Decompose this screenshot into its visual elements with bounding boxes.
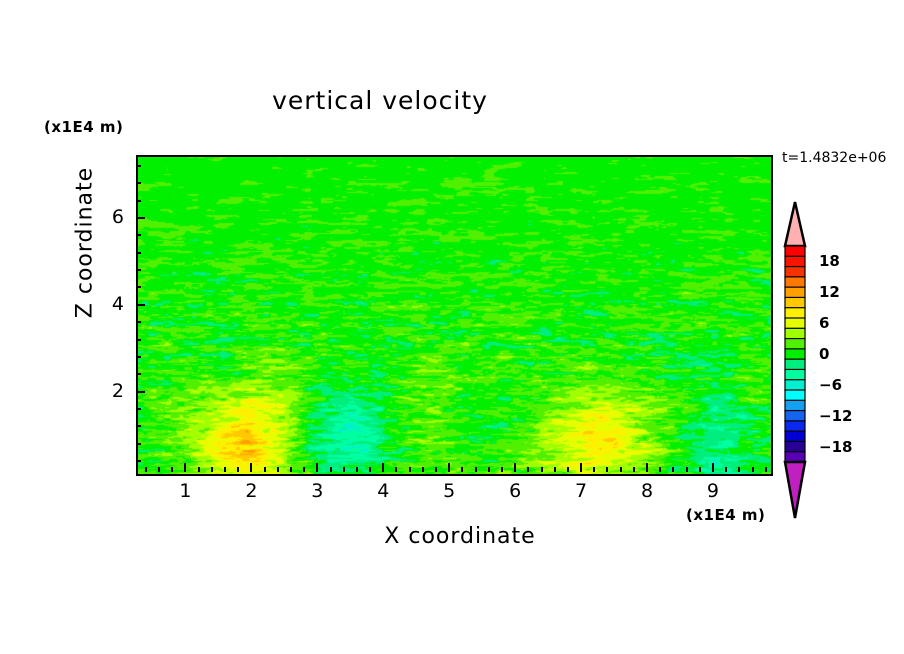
x-tick-label: 6 [500, 480, 530, 502]
contour-plot-area [136, 155, 773, 476]
x-tick-minor [527, 467, 529, 472]
x-tick-major [580, 463, 582, 472]
x-tick-minor [435, 467, 437, 472]
y-tick-minor [136, 252, 141, 254]
x-tick-minor [752, 467, 754, 472]
y-tick-minor [136, 182, 141, 184]
z-axis-unit-label: (x1E4 m) [44, 118, 123, 136]
colorbar-over-cap [785, 202, 805, 246]
x-tick-label: 2 [236, 480, 266, 502]
x-tick-minor [145, 467, 147, 472]
x-axis-unit-label: (x1E4 m) [686, 506, 765, 524]
x-tick-minor [264, 467, 266, 472]
colorbar-band [785, 390, 805, 401]
colorbar-band [785, 359, 805, 370]
colorbar-band [785, 308, 805, 319]
y-tick-major [136, 217, 145, 219]
y-tick-minor [136, 234, 141, 236]
colorbar-tick-label: 0 [819, 345, 829, 363]
y-tick-minor [136, 165, 141, 167]
y-tick-major [136, 304, 145, 306]
x-tick-label: 7 [566, 480, 596, 502]
x-tick-major [250, 463, 252, 472]
y-tick-minor [136, 286, 141, 288]
y-tick-minor [136, 321, 141, 323]
colorbar-tick-label: −18 [819, 438, 852, 456]
x-tick-minor [409, 467, 411, 472]
colorbar-band [785, 441, 805, 452]
x-axis-title: X coordinate [290, 524, 630, 549]
x-tick-minor [303, 467, 305, 472]
x-tick-minor [343, 467, 345, 472]
colorbar-band [785, 287, 805, 298]
x-tick-major [646, 463, 648, 472]
x-tick-minor [356, 467, 358, 472]
x-tick-minor [541, 467, 543, 472]
x-tick-minor [224, 467, 226, 472]
x-tick-label: 1 [170, 480, 200, 502]
x-tick-minor [659, 467, 661, 472]
colorbar-band [785, 246, 805, 257]
colorbar-band [785, 267, 805, 278]
y-tick-major [136, 391, 145, 393]
colorbar-band [785, 421, 805, 432]
x-tick-minor [369, 467, 371, 472]
colorbar-tick-label: 6 [819, 314, 829, 332]
x-tick-minor [198, 467, 200, 472]
x-tick-minor [699, 467, 701, 472]
y-tick-minor [136, 460, 141, 462]
x-tick-major [448, 463, 450, 472]
x-tick-minor [461, 467, 463, 472]
y-tick-minor [136, 373, 141, 375]
x-tick-minor [290, 467, 292, 472]
colorbar-band [785, 380, 805, 391]
colorbar-under-cap [785, 462, 805, 518]
x-tick-minor [765, 467, 767, 472]
y-tick-minor [136, 425, 141, 427]
colorbar-tick-label: −6 [819, 376, 842, 394]
x-tick-label: 4 [368, 480, 398, 502]
colorbar-band [785, 339, 805, 350]
colorbar-band [785, 256, 805, 267]
x-tick-label: 9 [698, 480, 728, 502]
x-tick-minor [422, 467, 424, 472]
colorbar-band [785, 369, 805, 380]
colorbar-band [785, 349, 805, 360]
x-tick-minor [158, 467, 160, 472]
x-tick-minor [237, 467, 239, 472]
x-tick-minor [211, 467, 213, 472]
x-tick-minor [738, 467, 740, 472]
colorbar-band [785, 411, 805, 422]
x-tick-minor [277, 467, 279, 472]
x-tick-minor [672, 467, 674, 472]
colorbar-band [785, 318, 805, 329]
y-tick-minor [136, 356, 141, 358]
colorbar-band [785, 297, 805, 308]
y-tick-label: 2 [94, 380, 124, 402]
x-tick-minor [395, 467, 397, 472]
x-tick-minor [633, 467, 635, 472]
x-tick-minor [475, 467, 477, 472]
x-tick-major [514, 463, 516, 472]
colorbar-tick-label: −12 [819, 407, 852, 425]
page-title: vertical velocity [0, 86, 760, 115]
colorbar-svg [781, 200, 811, 520]
contour-field-canvas [138, 157, 771, 474]
x-tick-minor [501, 467, 503, 472]
x-tick-label: 5 [434, 480, 464, 502]
y-tick-minor [136, 339, 141, 341]
x-tick-minor [330, 467, 332, 472]
colorbar-tick-label: 18 [819, 252, 840, 270]
colorbar-band [785, 431, 805, 442]
x-tick-major [712, 463, 714, 472]
colorbar-tick-label: 12 [819, 283, 840, 301]
x-tick-label: 3 [302, 480, 332, 502]
y-tick-label: 4 [94, 293, 124, 315]
x-tick-minor [171, 467, 173, 472]
x-tick-minor [567, 467, 569, 472]
colorbar-band [785, 277, 805, 288]
x-tick-minor [554, 467, 556, 472]
x-tick-minor [593, 467, 595, 472]
colorbar-band [785, 328, 805, 339]
y-tick-minor [136, 200, 141, 202]
colorbar-band [785, 400, 805, 411]
timestamp-label: t=1.4832e+06 [782, 150, 886, 166]
x-tick-major [382, 463, 384, 472]
y-tick-minor [136, 269, 141, 271]
x-tick-label: 8 [632, 480, 662, 502]
x-tick-minor [606, 467, 608, 472]
x-tick-major [184, 463, 186, 472]
x-tick-minor [620, 467, 622, 472]
x-tick-minor [725, 467, 727, 472]
y-tick-minor [136, 443, 141, 445]
y-tick-label: 6 [94, 206, 124, 228]
x-tick-minor [488, 467, 490, 472]
x-tick-major [316, 463, 318, 472]
y-tick-minor [136, 408, 141, 410]
x-tick-minor [686, 467, 688, 472]
figure-root: vertical velocity (x1E4 m) (x1E4 m) X co… [0, 0, 904, 654]
colorbar [781, 200, 811, 520]
